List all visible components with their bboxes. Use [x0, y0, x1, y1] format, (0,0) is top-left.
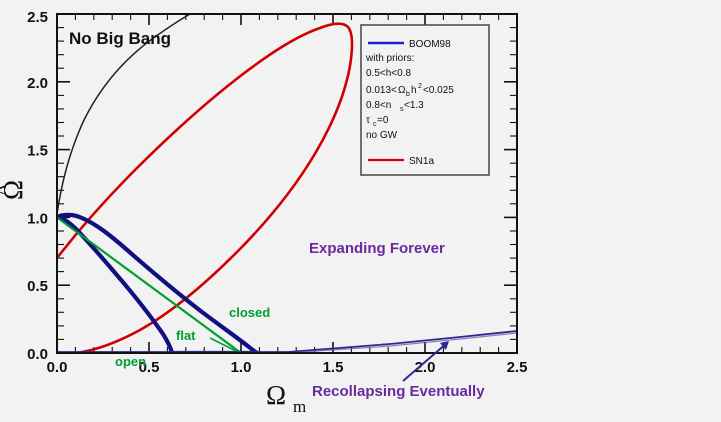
legend-prior-baryon-sub-b: b: [406, 91, 410, 98]
x-axis-title-symbol: Ω: [266, 380, 286, 410]
legend-prior-baryon-density: 0.013< Ω b h 2 <0.025: [366, 83, 454, 98]
x-axis-title-subscript: m: [293, 397, 306, 416]
x-tick-label-0: 0.0: [47, 359, 68, 376]
legend-prior-ns-prefix: 0.8<n: [366, 100, 391, 111]
legend-prior-baryon-omega: Ω: [398, 85, 406, 96]
legend-label-boom98: BOOM98: [409, 39, 451, 50]
legend-prior-baryon-prefix: 0.013<: [366, 85, 397, 96]
y-tick-label-3: 1.5: [27, 143, 48, 160]
legend-prior-baryon-h: h: [411, 85, 417, 96]
legend-prior-baryon-suffix: <0.025: [423, 85, 454, 96]
y-axis-title-subscript: Λ: [0, 183, 10, 196]
legend-box: BOOM98 with priors: 0.5<h<0.8 0.013< Ω b…: [361, 25, 489, 175]
label-no-big-bang: No Big Bang: [69, 29, 171, 48]
legend-prior-ns-suffix: <1.3: [404, 100, 424, 111]
y-axis-title: Ω Λ: [0, 180, 28, 200]
label-open: open: [115, 354, 146, 369]
y-tick-label-5: 2.5: [27, 9, 48, 26]
label-flat: flat: [176, 328, 196, 343]
x-tick-label-3: 1.5: [323, 359, 344, 376]
legend-prior-no-gw: no GW: [366, 130, 398, 141]
legend-prior-tau-value: =0: [377, 115, 389, 126]
x-tick-label-5: 2.5: [507, 359, 528, 376]
plot-svg: 0.0 0.5 1.0 1.5 2.0 2.5 0.0 0.5 1.0 1.5 …: [0, 0, 721, 422]
cosmology-parameter-plot: 0.0 0.5 1.0 1.5 2.0 2.5 0.0 0.5 1.0 1.5 …: [0, 0, 721, 422]
legend-priors-header: with priors:: [365, 53, 414, 64]
legend-prior-tau-symbol: τ: [366, 115, 370, 126]
legend-label-sn1a: SN1a: [409, 156, 434, 167]
label-recollapsing-eventually: Recollapsing Eventually: [312, 383, 485, 400]
label-closed: closed: [229, 305, 270, 320]
label-expanding-forever: Expanding Forever: [309, 240, 445, 257]
y-tick-label-4: 2.0: [27, 75, 48, 92]
legend-prior-baryon-exponent: 2: [418, 83, 422, 90]
y-tick-label-1: 0.5: [27, 278, 48, 295]
y-tick-label-2: 1.0: [27, 210, 48, 227]
y-tick-label-0: 0.0: [27, 346, 48, 363]
x-tick-label-2: 1.0: [231, 359, 252, 376]
legend-prior-hubble: 0.5<h<0.8: [366, 68, 411, 79]
